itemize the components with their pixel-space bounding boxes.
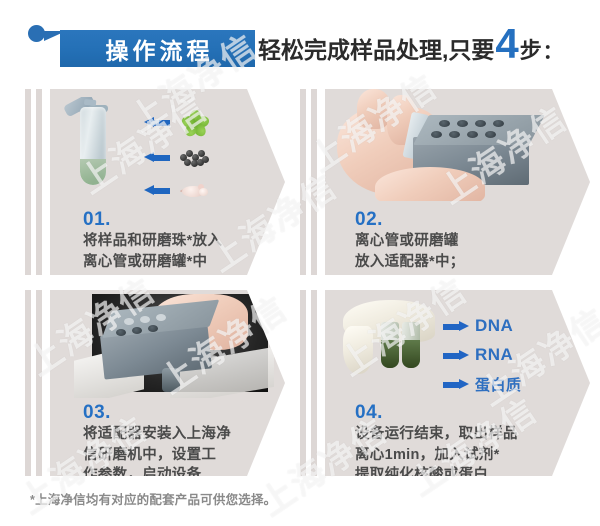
output-label: DNA (475, 316, 513, 336)
step-description: 离心管或研磨罐 放入适配器*中； (355, 231, 465, 272)
section-banner: 操作流程 (60, 30, 255, 67)
output-row-rna: RNA (443, 345, 513, 365)
headline-prefix: 轻松完成样品处理,只要 (258, 31, 494, 65)
output-arrow-icon (443, 350, 469, 361)
headline-suffix: 步 (520, 33, 542, 65)
step-card-2: 02. 离心管或研磨罐 放入适配器*中； (300, 89, 590, 275)
step-3-artwork (74, 294, 274, 398)
step-card-body: DNA RNA 蛋白质 04. 设备运行结束，取出样品 离心1min，加入试剂*… (325, 290, 590, 476)
step-line: 信研磨机中，设置工 (83, 445, 231, 466)
well-icon (485, 131, 496, 138)
centrifuge-tube-icon (80, 107, 106, 185)
card-accent-bar (36, 89, 42, 275)
input-arrow-icon (144, 117, 170, 128)
step-line: 将样品和研磨珠*放入 (83, 231, 222, 252)
step-1-artwork (58, 97, 258, 205)
well-icon (124, 318, 134, 325)
card-accent-bar (311, 290, 317, 476)
card-accent-bar (25, 290, 31, 476)
well-icon (449, 131, 460, 138)
well-icon (493, 120, 504, 127)
output-arrow-icon (443, 321, 469, 332)
input-arrow-icon (144, 152, 170, 163)
step-card-body: 01. 将样品和研磨珠*放入 离心管或研磨罐*中 (50, 89, 285, 275)
sample-tubes-icon (381, 322, 423, 368)
grinder-shaft (162, 368, 180, 392)
output-row-protein: 蛋白质 (443, 374, 522, 395)
step-2-artwork (335, 89, 545, 201)
palm-icon (375, 167, 485, 201)
step-line: 作参数，启动设备 (83, 465, 231, 476)
step-line: 提取纯化核酸或蛋白 (355, 465, 518, 476)
well-icon (156, 314, 166, 321)
output-row-dna: DNA (443, 316, 513, 336)
flag-dot-icon (28, 25, 45, 42)
step-card-1: 01. 将样品和研磨珠*放入 离心管或研磨罐*中 (25, 89, 285, 275)
step-card-4: DNA RNA 蛋白质 04. 设备运行结束，取出样品 离心1min，加入试剂*… (300, 290, 590, 476)
card-accent-bar (311, 89, 317, 275)
well-icon (132, 327, 142, 334)
well-icon (457, 120, 468, 127)
banner-label: 操作流程 (102, 32, 214, 66)
plant-leaf-icon (182, 109, 208, 135)
output-label: 蛋白质 (475, 374, 522, 395)
grinding-beads-icon (180, 148, 210, 168)
output-label: RNA (475, 345, 513, 365)
card-accent-bar (25, 89, 31, 275)
card-accent-bar (300, 290, 306, 476)
input-arrow-icon (144, 185, 170, 196)
step-description: 设备运行结束，取出样品 离心1min，加入试剂* 提取纯化核酸或蛋白 (355, 424, 518, 476)
output-arrow-icon (443, 379, 469, 390)
step-number: 01. (83, 209, 111, 231)
step-card-3: 03. 将适配器安装入上海净 信研磨机中，设置工 作参数，启动设备 (25, 290, 285, 476)
step-card-body: 02. 离心管或研磨罐 放入适配器*中； (325, 89, 590, 275)
step-line: 离心1min，加入试剂* (355, 445, 518, 466)
footnote: *上海净信均有对应的配套产品可供您选择。 (30, 489, 276, 508)
gloved-thumb-icon (343, 326, 373, 374)
mouse-icon (180, 182, 210, 200)
step-line: 离心管或研磨罐*中 (83, 252, 222, 273)
well-icon (431, 131, 442, 138)
finger-icon (357, 89, 391, 129)
step-number: 02. (355, 209, 383, 231)
header: 操作流程 轻松完成样品处理,只要 4 步 ： (0, 0, 600, 88)
well-icon (467, 131, 478, 138)
card-accent-bar (36, 290, 42, 476)
step-description: 将样品和研磨珠*放入 离心管或研磨罐*中 (83, 231, 222, 272)
step-number: 03. (83, 402, 111, 424)
step-number: 04. (355, 402, 383, 424)
headline-step-count: 4 (495, 26, 518, 62)
well-icon (140, 316, 150, 323)
step-card-body: 03. 将适配器安装入上海净 信研磨机中，设置工 作参数，启动设备 (50, 290, 285, 476)
step-line: 放入适配器*中； (355, 252, 465, 273)
step-line: 离心管或研磨罐 (355, 231, 465, 252)
headline-colon: ： (543, 35, 563, 64)
page-headline: 轻松完成样品处理,只要 4 步 ： (258, 26, 563, 72)
step-line: 将适配器安装入上海净 (83, 424, 231, 445)
well-icon (116, 329, 126, 336)
well-icon (148, 325, 158, 332)
card-accent-bar (300, 89, 306, 275)
step-line: 设备运行结束，取出样品 (355, 424, 518, 445)
step-description: 将适配器安装入上海净 信研磨机中，设置工 作参数，启动设备 (83, 424, 231, 476)
well-icon (439, 120, 450, 127)
well-icon (475, 120, 486, 127)
